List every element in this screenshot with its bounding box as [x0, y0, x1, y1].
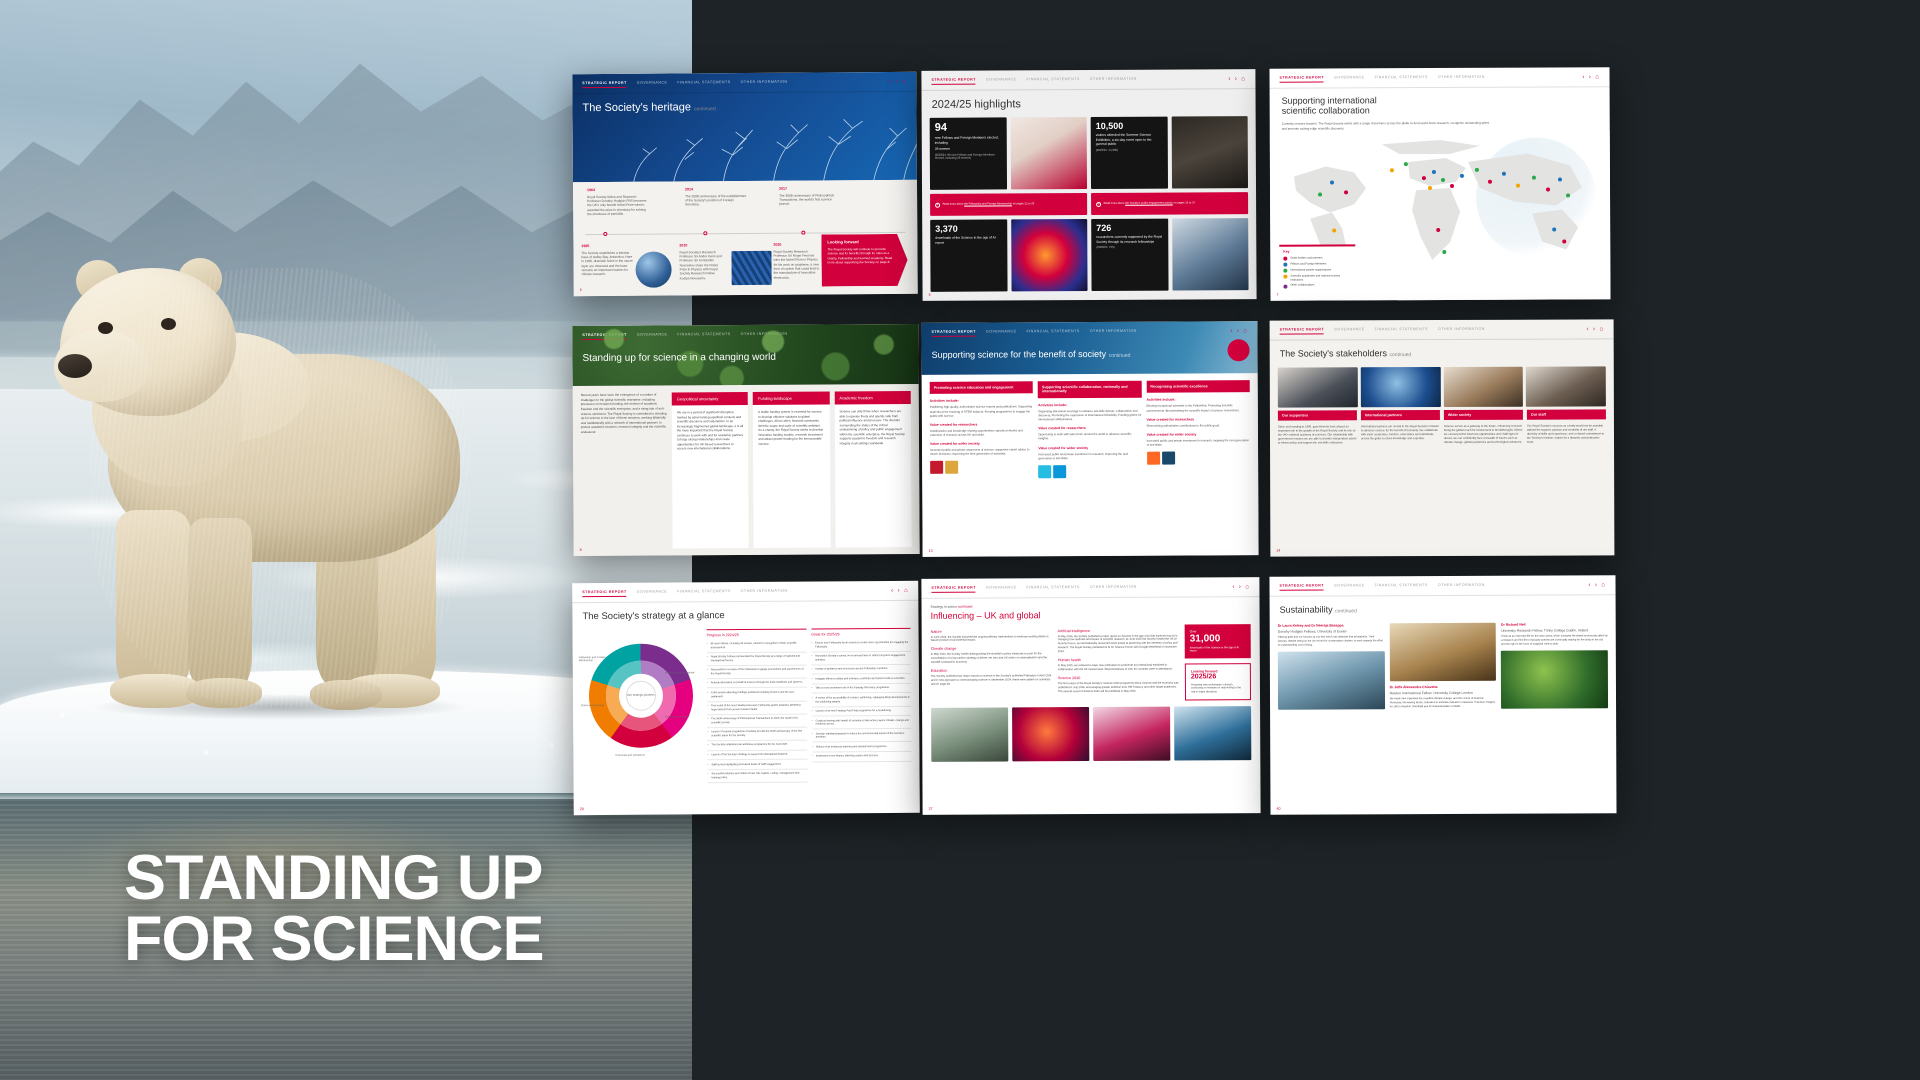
- legend-swatch: [1283, 275, 1287, 279]
- page-pager[interactable]: ‹ › ⌂: [1228, 76, 1245, 82]
- standing-up-intro: Recent years have seen the emergence of …: [581, 392, 668, 549]
- donut-centre-label: Our strategic priorities: [626, 680, 656, 710]
- section-heading: Nature: [931, 629, 1053, 634]
- timeline-node: [603, 232, 607, 236]
- sdg-icon: [1053, 465, 1066, 478]
- page-thumbnail-stakeholders[interactable]: STRATEGIC REPORT GOVERNANCE FINANCIAL ST…: [1270, 319, 1615, 556]
- page-title-continued: continued: [1389, 352, 1411, 358]
- home-icon[interactable]: ⌂: [1245, 584, 1249, 590]
- legend-label: International partner organisations: [1290, 268, 1331, 272]
- donut-label-research-excellence: Research excellence: [665, 715, 699, 718]
- nav-tab-other-information[interactable]: OTHER INFORMATION: [1438, 327, 1485, 331]
- column-text: International partners are crucial to th…: [1361, 420, 1440, 440]
- standing-up-content: Recent years have seen the emergence of …: [573, 384, 920, 556]
- strategy-donut-chart: Our strategic priorities Fellowship and …: [581, 629, 702, 806]
- photo-our-staff: [1526, 366, 1606, 406]
- photo-ocean: [1174, 706, 1251, 760]
- prev-icon[interactable]: ‹: [889, 79, 892, 85]
- page-number: 27: [929, 807, 933, 811]
- photo-power-station: [931, 707, 1008, 761]
- nav-tab-financial-statements[interactable]: FINANCIAL STATEMENTS: [1026, 77, 1079, 81]
- card-heading: Academic freedom: [834, 391, 910, 404]
- page-title-text: The Society's heritage: [582, 101, 691, 114]
- timeline-entry: 1985 The Society establishes a interest …: [581, 244, 633, 277]
- timeline-text: The 350th anniversary of Philosophical T…: [779, 193, 834, 206]
- column-heading: Our staff: [1527, 409, 1606, 419]
- page-thumbnail-standing-up-for-science[interactable]: STRATEGIC REPORT GOVERNANCE FINANCIAL ST…: [572, 324, 919, 556]
- value2-text: Increased public and private investment …: [1147, 438, 1250, 447]
- home-icon[interactable]: ⌂: [1243, 328, 1247, 334]
- page-title: The Society's strategy at a glance: [572, 600, 918, 625]
- home-icon[interactable]: ⌂: [904, 588, 908, 594]
- value-heading: Value created for researchers: [930, 422, 1033, 427]
- photo-ai-graphic: [1093, 706, 1170, 760]
- glacier-hero-photo: STRATEGIC REPORT GOVERNANCE FINANCIAL ST…: [921, 321, 1257, 375]
- bear-paw-front-right: [186, 678, 262, 708]
- page-nav: STRATEGIC REPORT GOVERNANCE FINANCIAL ST…: [1269, 67, 1609, 88]
- stat-tile-ai-downloads[interactable]: 3,370 downloads of the Science in the ag…: [930, 219, 1007, 291]
- legend-label: Fellows and Foreign Members: [1290, 262, 1326, 266]
- legend-item: Fellows and Foreign Members: [1283, 262, 1351, 267]
- column-supporting-collaboration: Supporting scientific collaboration, nat…: [1038, 381, 1142, 550]
- next-icon[interactable]: ›: [1593, 326, 1596, 332]
- page-title-continued: continued: [694, 106, 716, 112]
- nav-tab-financial-statements[interactable]: FINANCIAL STATEMENTS: [677, 80, 730, 84]
- next-icon[interactable]: ›: [1595, 582, 1598, 588]
- sdg-icon-row: [930, 461, 1033, 475]
- legend-label: Grant holders and partners: [1290, 256, 1322, 260]
- timeline-node: [801, 231, 805, 235]
- stakeholder-column-supporters: Our supporters Since our founding in 166…: [1278, 410, 1357, 445]
- stat-caption: downloads of the Science in the age of A…: [1190, 646, 1246, 654]
- nav-tab-financial-statements[interactable]: FINANCIAL STATEMENTS: [677, 589, 730, 593]
- nav-tab-other-information[interactable]: OTHER INFORMATION: [741, 589, 788, 593]
- donut-label-science-society: Science and society: [581, 703, 615, 706]
- stakeholder-column-wider-society: Wider society Science serves as a gatewa…: [1444, 409, 1523, 444]
- strategy-content: Our strategic priorities Fellowship and …: [572, 623, 919, 811]
- stat-sub: (2023/24: 14,300): [1096, 148, 1163, 152]
- page-number: 6: [929, 293, 931, 297]
- page-thumbnail-international-collaboration[interactable]: STRATEGIC REPORT GOVERNANCE FINANCIAL ST…: [1269, 67, 1610, 300]
- nav-tab-other-information[interactable]: OTHER INFORMATION: [1438, 583, 1485, 587]
- column-text: The Royal Society's success as a body wo…: [1527, 419, 1606, 444]
- photo-exhibition-visitors: [1171, 116, 1248, 188]
- polar-bear: [30, 118, 530, 818]
- column-heading: International partners: [1361, 410, 1440, 420]
- section-heading: Climate change: [931, 647, 1053, 652]
- list-item: The 360th anniversary of Philosophical T…: [707, 714, 807, 728]
- card-text: We are in a period of significant disrup…: [672, 405, 749, 451]
- value-text: Researching authoritative contributions …: [1147, 423, 1250, 428]
- nav-tab-strategic-report[interactable]: STRATEGIC REPORT: [582, 590, 627, 597]
- home-icon[interactable]: ⌂: [1599, 326, 1603, 332]
- kicker-continued: continued: [958, 604, 973, 608]
- photo-science-visual: [1012, 707, 1089, 761]
- value2-heading: Value created for wider society: [1038, 445, 1141, 450]
- column-heading: Promoting science education and engageme…: [930, 381, 1033, 394]
- nav-tab-governance[interactable]: GOVERNANCE: [986, 329, 1017, 333]
- stat-tile-exhibition-visitors[interactable]: 10,500 visitors attended the Summer Scie…: [1091, 116, 1168, 188]
- page-number: 14: [1276, 549, 1280, 553]
- stat-box-downloads: Over 31,000 downloads of the Science in …: [1185, 624, 1251, 659]
- activities-text: Publishing high-quality, authoritative s…: [930, 405, 1033, 418]
- read-more-link[interactable]: + Read more about the Fellowship and For…: [935, 202, 1082, 208]
- timeline-entry: 2014 The 200th anniversary of the establ…: [685, 187, 747, 207]
- timeline-year: 2014: [685, 187, 747, 192]
- stat-value: 3,370: [935, 224, 1002, 233]
- timeline-text: The Society establishes a interest base …: [581, 251, 632, 277]
- value2-heading: Value created for wider society: [1147, 432, 1250, 437]
- next-icon[interactable]: ›: [898, 588, 901, 594]
- fellow-text: We thank new organised the coastline cli…: [1390, 697, 1497, 709]
- page-thumbnail-influencing[interactable]: STRATEGIC REPORT GOVERNANCE FINANCIAL ST…: [921, 577, 1260, 815]
- page-title: The Society's stakeholders continued: [1270, 339, 1614, 362]
- nav-tab-other-information[interactable]: OTHER INFORMATION: [1090, 77, 1137, 81]
- timeline-text: Royal Society's Research Professor Sir A…: [679, 250, 721, 280]
- sustainability-column-3: Dr Richard Neil University Research Fell…: [1501, 622, 1608, 713]
- hero-title-line1: STANDING UP: [124, 843, 542, 913]
- activities-heading: Activities include:: [1146, 398, 1249, 403]
- highlights-tile-grid: 94 new Fellows and Foreign Members elect…: [922, 113, 1257, 298]
- collaboration-intro: Curiosity crosses borders. The Royal Soc…: [1282, 121, 1492, 131]
- page-title: Standing up for science in a changing wo…: [572, 342, 918, 367]
- next-icon[interactable]: ›: [1235, 76, 1238, 82]
- list-item: Responded to a review of the Fellowship …: [707, 665, 807, 679]
- prev-icon[interactable]: ‹: [1588, 582, 1591, 588]
- link-text[interactable]: the Fellowship and Foreign Membership: [964, 202, 1012, 205]
- page-number: 13: [929, 549, 933, 553]
- stat-value: 94: [935, 122, 1002, 133]
- donut-label-influencing: Influencing UK and global: [665, 671, 699, 674]
- stakeholder-column-our-staff: Our staff The Royal Society's success as…: [1527, 409, 1606, 444]
- nav-tab-governance[interactable]: GOVERNANCE: [637, 81, 668, 85]
- list-item: A review of the accessibility of content…: [811, 693, 911, 707]
- nav-tab-financial-statements[interactable]: FINANCIAL STATEMENTS: [1026, 585, 1079, 589]
- page-thumbnail-strategy-at-a-glance[interactable]: STRATEGIC REPORT GOVERNANCE FINANCIAL ST…: [572, 581, 920, 815]
- stat-tile-new-fellows[interactable]: 94 new Fellows and Foreign Members elect…: [930, 117, 1007, 189]
- legend-swatch: [1283, 269, 1287, 273]
- page-thumbnail-heritage[interactable]: STRATEGIC REPORT GOVERNANCE FINANCIAL ST…: [572, 72, 918, 296]
- link-post: on pages 33 to 37: [1173, 201, 1195, 204]
- page-title-text: Standing up for science in a changing wo…: [582, 351, 776, 363]
- photo-international-partners: [1361, 367, 1441, 407]
- prev-icon[interactable]: ‹: [1228, 76, 1231, 82]
- page-title-text: 2024/25 highlights: [932, 98, 1021, 110]
- next-icon[interactable]: ›: [1237, 328, 1240, 334]
- section-text: In May 2024, the Society published a maj…: [1058, 634, 1180, 654]
- challenge-card-funding: Funding landscape A stable funding syste…: [753, 391, 830, 547]
- looking-forward-text: The Royal Society will continue to promo…: [827, 247, 892, 264]
- next-icon[interactable]: ›: [1239, 584, 1242, 590]
- column-heading: Supporting scientific collaboration, nat…: [1038, 381, 1141, 399]
- nav-tab-governance[interactable]: GOVERNANCE: [986, 585, 1017, 589]
- bear-eye-right: [161, 318, 176, 330]
- stat-caption: new Fellows and Foreign Members elected,…: [935, 135, 1002, 144]
- fellow-name: Dr Richard Neil: [1501, 622, 1608, 627]
- page-nav: STRATEGIC REPORT GOVERNANCE FINANCIAL ST…: [921, 321, 1257, 341]
- nav-tab-strategic-report[interactable]: STRATEGIC REPORT: [931, 78, 976, 85]
- next-icon[interactable]: ›: [896, 79, 899, 85]
- section-heading: Human health: [1058, 658, 1180, 663]
- activities-text: Electing exceptional scientists to the F…: [1146, 404, 1249, 413]
- link-text[interactable]: the Society's public engagement activity: [1125, 201, 1173, 204]
- looking-forward-box: Looking forward 2025/26 Preparing new wo…: [1185, 663, 1251, 700]
- photo-sediment-core: [1389, 622, 1496, 680]
- nav-tab-governance[interactable]: GOVERNANCE: [1334, 583, 1365, 587]
- heritage-hero: STRATEGIC REPORT GOVERNANCE FINANCIAL ST…: [572, 72, 917, 182]
- column-heading: Recognising scientific excellence: [1146, 380, 1249, 393]
- legend-label: Other collaborations: [1290, 284, 1314, 288]
- stat-over-label: Over: [1190, 629, 1246, 633]
- fellow-text: Filtering gulls and our function at zoo-…: [1278, 636, 1385, 648]
- donut-label-fellowship: Fellowship and Foreign Membership: [579, 655, 613, 662]
- page-pager[interactable]: ‹ › ⌂: [1588, 582, 1605, 588]
- nav-tab-governance[interactable]: GOVERNANCE: [637, 590, 668, 594]
- progress-list: 88 new Fellows, including 28 women, elec…: [707, 639, 807, 783]
- sustainability-columns: Dr Laura Kelsey and Dr Neeraja Basappa D…: [1270, 617, 1616, 721]
- nav-tab-strategic-report[interactable]: STRATEGIC REPORT: [1280, 76, 1325, 83]
- list-item: Royal Society Fellows represented the Ro…: [707, 652, 807, 666]
- value-heading: Value created for researchers: [1147, 417, 1250, 422]
- fellow-name: Dr Jeffa Alessandra Chiavetta: [1390, 684, 1497, 689]
- section-heading: Education: [931, 668, 1053, 673]
- legend-heading: Key: [1283, 249, 1351, 254]
- page-title-text: The Society's stakeholders: [1280, 348, 1387, 358]
- page-title-text-2: scientific collaboration: [1282, 105, 1598, 117]
- value2-heading: Value created for wider society: [930, 441, 1033, 446]
- timeline-entry: 1964 Royal Society fellow and Research P…: [587, 188, 649, 217]
- section-text: In May 2024, the Society further disting…: [931, 653, 1053, 665]
- page-pager[interactable]: ‹ › ⌂: [1232, 584, 1249, 590]
- nav-tab-governance[interactable]: GOVERNANCE: [986, 77, 1017, 81]
- nav-tab-other-information[interactable]: OTHER INFORMATION: [741, 332, 788, 336]
- stat-sub: (2023/24: 703): [1096, 246, 1163, 250]
- legend-label: Scientific academies and national scienc…: [1290, 274, 1351, 282]
- timeline-year: 2020: [773, 242, 819, 247]
- nav-tab-strategic-report[interactable]: STRATEGIC REPORT: [582, 81, 627, 88]
- card-heading: Geopolitical uncertainty: [672, 392, 748, 405]
- nav-tab-governance[interactable]: GOVERNANCE: [637, 332, 668, 336]
- list-item: First round of the new Faraday Discovery…: [707, 701, 807, 715]
- page-title-continued: continued: [1109, 352, 1131, 358]
- list-item: 88 new Fellows, including 28 women, elec…: [707, 639, 807, 653]
- nav-tab-strategic-report[interactable]: STRATEGIC REPORT: [931, 586, 976, 593]
- page-nav: STRATEGIC REPORT GOVERNANCE FINANCIAL ST…: [1270, 319, 1614, 340]
- nav-tab-other-information[interactable]: OTHER INFORMATION: [741, 80, 788, 84]
- page-pager[interactable]: ‹ › ⌂: [1586, 326, 1603, 332]
- sustainability-column-2: Dr Jeffa Alessandra Chiavetta Newton Int…: [1389, 622, 1496, 713]
- nav-tab-governance[interactable]: GOVERNANCE: [1334, 75, 1365, 79]
- stat-caption: researchers currently supported by the R…: [1096, 235, 1163, 244]
- section-text: In June 2024, the Society launched the o…: [931, 635, 1053, 643]
- influencing-sidebar: Over 31,000 downloads of the Science in …: [1185, 624, 1251, 700]
- page-pager[interactable]: ‹ › ⌂: [1582, 74, 1599, 80]
- forest-canopy-photo: STRATEGIC REPORT GOVERNANCE FINANCIAL ST…: [572, 324, 918, 386]
- legend-swatch: [1283, 263, 1287, 267]
- card-heading: Funding landscape: [753, 391, 829, 404]
- page-thumbnail-grid: STRATEGIC REPORT GOVERNANCE FINANCIAL ST…: [570, 0, 1920, 1080]
- strategy-table: Progress in 2024/25 Goals for 2025/26 88…: [707, 627, 912, 804]
- page-number: 5: [580, 288, 582, 292]
- bear-paw-back-right: [310, 680, 382, 710]
- card-text: Science can only thrive when researchers…: [834, 404, 911, 445]
- list-item: Implement a new finance planning system …: [812, 752, 912, 762]
- stat-value: 726: [1096, 223, 1163, 232]
- link-pre: Read more about: [1104, 201, 1125, 204]
- page-thumbnail-sustainability[interactable]: STRATEGIC REPORT GOVERNANCE FINANCIAL ST…: [1269, 575, 1616, 815]
- map-legend: Key Grant holders and partners Fellows a…: [1279, 244, 1355, 293]
- nav-tab-strategic-report[interactable]: STRATEGIC REPORT: [1280, 584, 1325, 591]
- prev-icon[interactable]: ‹: [1582, 74, 1585, 80]
- timeline-year: 1964: [587, 188, 649, 193]
- column-text: Since our founding in 1660, governments …: [1278, 420, 1357, 445]
- looking-forward-year: 2025/26: [1191, 673, 1245, 681]
- timeline-entry: 2020 Royal Society Research Professor Si…: [773, 242, 819, 279]
- photo-supporters: [1278, 367, 1358, 407]
- fellow-role: Newton International Fellow, University …: [1390, 691, 1497, 696]
- timeline-entry: 2010 Royal Society's Research Professor …: [679, 243, 723, 280]
- presentation-stage: STANDING UP FOR SCIENCE STRATEGIC REPORT…: [0, 0, 1920, 1080]
- kicker: Strategy in action continued: [931, 603, 1251, 609]
- nav-tab-financial-statements[interactable]: FINANCIAL STATEMENTS: [1375, 583, 1428, 587]
- value2-text: Increased public and private awareness o…: [930, 447, 1033, 456]
- link-pre: Read more about: [943, 202, 964, 205]
- sdg-icon: [1038, 465, 1051, 478]
- card-text: A stable funding system is essential for…: [753, 404, 830, 445]
- page-subtitle: Influencing – UK and global: [931, 609, 1251, 621]
- photo-forest: [1501, 650, 1608, 708]
- timeline-text: Royal Society fellow and Research Profes…: [587, 195, 646, 217]
- nav-tab-financial-statements[interactable]: FINANCIAL STATEMENTS: [1375, 75, 1428, 79]
- legend-item: International partner organisations: [1283, 268, 1351, 273]
- home-icon[interactable]: ⌂: [902, 79, 906, 85]
- nav-tab-governance[interactable]: GOVERNANCE: [1334, 327, 1365, 331]
- legend-swatch: [1283, 257, 1287, 261]
- sdg-icon: [1147, 452, 1160, 465]
- nav-tab-financial-statements[interactable]: FINANCIAL STATEMENTS: [1375, 327, 1428, 331]
- activities-heading: Activities include:: [930, 399, 1033, 404]
- nav-tab-other-information[interactable]: OTHER INFORMATION: [1438, 75, 1485, 79]
- page-nav: STRATEGIC REPORT GOVERNANCE FINANCIAL ST…: [921, 577, 1259, 598]
- value-text: Collaboration and knowledge sharing oppo…: [930, 428, 1033, 437]
- page-pager[interactable]: ‹ › ⌂: [891, 588, 908, 594]
- stat-tile-research-fellows[interactable]: 726 researchers currently supported by t…: [1091, 218, 1168, 290]
- section-heading: Artificial intelligence: [1058, 628, 1180, 633]
- timeline-year: 1985: [581, 244, 633, 249]
- next-icon[interactable]: ›: [1589, 74, 1592, 80]
- nav-tab-other-information[interactable]: OTHER INFORMATION: [1090, 329, 1137, 333]
- home-icon[interactable]: ⌂: [1241, 76, 1245, 82]
- read-more-link[interactable]: + Read more about the Society's public e…: [1096, 201, 1243, 207]
- stat-link-public-engagement[interactable]: + Read more about the Society's public e…: [1091, 192, 1248, 215]
- home-icon[interactable]: ⌂: [1595, 74, 1599, 80]
- timeline-node: [703, 231, 707, 235]
- page-thumbnail-highlights[interactable]: STRATEGIC REPORT GOVERNANCE FINANCIAL ST…: [921, 69, 1256, 301]
- kicker-text: Strategy in action: [931, 604, 957, 608]
- bear-front-leg-left: [116, 510, 190, 700]
- section-text: In May 2025, we received a major new pub…: [1058, 664, 1180, 672]
- page-pager[interactable]: ‹ › ⌂: [1230, 328, 1247, 334]
- prev-icon[interactable]: ‹: [1586, 326, 1589, 332]
- legend-swatch: [1283, 285, 1287, 289]
- column-text: Science serves as a gateway to the futur…: [1444, 419, 1523, 444]
- plus-icon: +: [1096, 201, 1101, 206]
- nav-tab-strategic-report[interactable]: STRATEGIC REPORT: [582, 333, 627, 340]
- fellow-role: University Research Fellow, Trinity Coll…: [1501, 628, 1608, 633]
- bear-nose: [58, 354, 92, 378]
- page-number: 20: [580, 807, 584, 811]
- prev-icon[interactable]: ‹: [891, 588, 894, 594]
- photo-seabirds: [1278, 651, 1385, 709]
- nav-tab-strategic-report[interactable]: STRATEGIC REPORT: [1280, 327, 1325, 334]
- home-icon[interactable]: ⌂: [1601, 582, 1605, 588]
- link-post: on pages 22 to 25: [1013, 202, 1035, 205]
- photo-wider-society: [1443, 366, 1523, 406]
- nav-tab-financial-statements[interactable]: FINANCIAL STATEMENTS: [1026, 329, 1079, 333]
- stat-sub: (2023/24: 80 new Fellows and Foreign Mem…: [935, 153, 1002, 161]
- page-nav: STRATEGIC REPORT GOVERNANCE FINANCIAL ST…: [572, 581, 918, 603]
- fellow-name: Dr Laura Kelsey and Dr Neeraja Basappa: [1278, 623, 1385, 628]
- sustainability-column-1: Dr Laura Kelsey and Dr Neeraja Basappa D…: [1278, 623, 1385, 714]
- cyanotype-algae-illustration: [573, 114, 917, 182]
- section-text: The Society published two major reports …: [931, 674, 1053, 686]
- value2-text: Increased public and private investment …: [1038, 451, 1141, 460]
- legend-item: Other collaborations: [1283, 284, 1351, 289]
- challenge-card-academic-freedom: Academic freedom Science can only thrive…: [834, 391, 911, 547]
- page-nav: STRATEGIC REPORT GOVERNANCE FINANCIAL ST…: [572, 72, 916, 94]
- timeline-year: 2010: [679, 243, 723, 248]
- page-pager[interactable]: ‹ › ⌂: [889, 79, 906, 85]
- nav-tab-other-information[interactable]: OTHER INFORMATION: [1090, 585, 1137, 589]
- bear-eye-left: [98, 322, 113, 334]
- looking-forward-heading: Looking forward: [827, 239, 895, 245]
- section-text: The first output of the Royal Society's …: [1058, 681, 1180, 693]
- stat-link-fellowship[interactable]: + Read more about the Fellowship and For…: [930, 193, 1087, 216]
- plus-icon: +: [935, 202, 940, 207]
- fellow-role: Dorothy Hodgkin Fellows, University of E…: [1278, 629, 1385, 634]
- page-number: 8: [580, 548, 582, 552]
- timeline-entry: 2017 The 350th anniversary of Philosophi…: [779, 186, 841, 206]
- legend-item: Scientific academies and national scienc…: [1283, 274, 1351, 282]
- donut-label-corporate: Corporate and operations: [615, 753, 677, 757]
- nav-tab-financial-statements[interactable]: FINANCIAL STATEMENTS: [677, 332, 730, 336]
- sdg-icon: [945, 461, 958, 474]
- timeline-text: The 200th anniversary of the establishme…: [685, 194, 746, 207]
- page-thumbnail-benefit-of-society[interactable]: STRATEGIC REPORT GOVERNANCE FINANCIAL ST…: [921, 321, 1258, 557]
- page-title-text: Sustainability: [1280, 604, 1333, 614]
- stakeholder-column-international: International partners International par…: [1361, 410, 1440, 445]
- value-text: Opportunity to work with talent from aro…: [1038, 432, 1141, 441]
- page-number: 40: [1276, 807, 1280, 811]
- stat-value: 10,500: [1096, 121, 1163, 130]
- list-item: Ensure new Fellowship forum events to cr…: [811, 638, 911, 652]
- stakeholder-columns: Our supporters Since our founding in 166…: [1270, 409, 1614, 450]
- looking-forward-callout: Looking forward The Royal Society will c…: [821, 234, 907, 287]
- world-map: Key Grant holders and partners Fellows a…: [1270, 132, 1611, 301]
- list-item: Successful adoption and rollout of new r…: [708, 769, 808, 783]
- prev-icon[interactable]: ‹: [1230, 328, 1233, 334]
- looking-forward-text: Preparing new workstream outreach, conti…: [1191, 683, 1245, 694]
- column-promoting-education: Promoting science education and engageme…: [930, 381, 1034, 550]
- list-item: Launch of a grant programme of activity …: [707, 727, 807, 741]
- prev-icon[interactable]: ‹: [1232, 584, 1235, 590]
- influencing-photo-row: [922, 706, 1260, 770]
- stat-emphasis: 28 women: [935, 147, 1002, 152]
- stat-caption: visitors attended the Summer Science Exh…: [1096, 133, 1163, 147]
- influencing-content: Nature In June 2024, the Society launche…: [922, 622, 1260, 708]
- nav-tab-strategic-report[interactable]: STRATEGIC REPORT: [931, 330, 976, 337]
- page-nav: STRATEGIC REPORT GOVERNANCE FINANCIAL ST…: [572, 324, 918, 345]
